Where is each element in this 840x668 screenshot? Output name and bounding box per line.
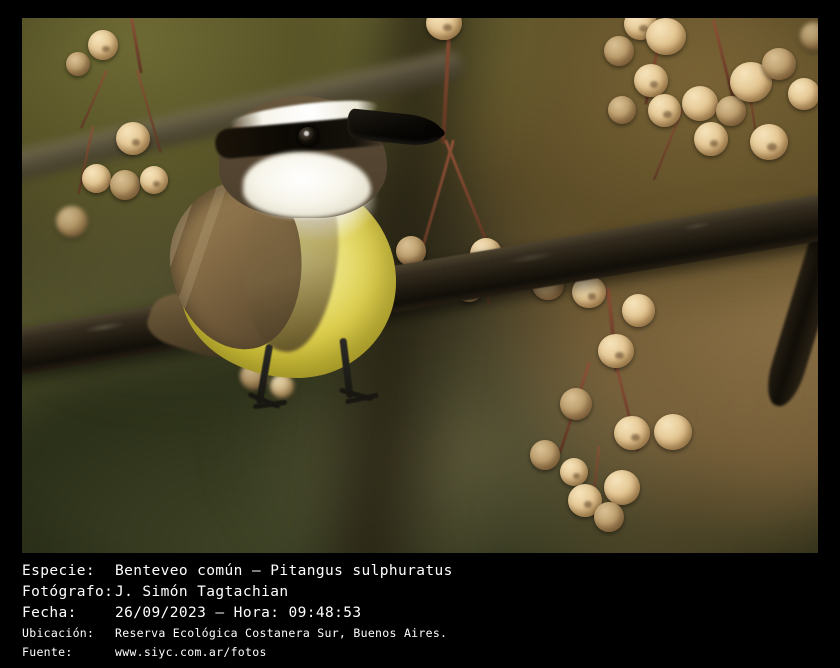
especie-value: Benteveo común – Pitangus sulphuratus [115,561,453,582]
fecha-label: Fecha: [22,603,115,624]
especie-label: Especie: [22,561,115,582]
metadata-row-ubicacion: Ubicación: Reserva Ecológica Costanera S… [22,624,662,643]
fuente-value: www.siyc.com.ar/fotos [115,643,267,662]
metadata-row-especie: Especie: Benteveo común – Pitangus sulph… [22,561,662,582]
metadata-row-fotografo: Fotógrafo: J. Simón Tagtachian [22,582,662,603]
caption-bar: Especie: Benteveo común – Pitangus sulph… [0,555,840,668]
metadata-row-fecha: Fecha: 26/09/2023 – Hora: 09:48:53 [22,603,662,624]
fotografo-value: J. Simón Tagtachian [115,582,288,603]
fotografo-label: Fotógrafo: [22,582,115,603]
ubicacion-label: Ubicación: [22,624,115,643]
photo-card: Especie: Benteveo común – Pitangus sulph… [0,0,840,668]
metadata-row-fuente: Fuente: www.siyc.com.ar/fotos [22,643,662,662]
great-kiskadee-bird [157,86,447,386]
berry-cluster-center-right [502,288,732,548]
bird-eye [298,127,319,146]
ubicacion-value: Reserva Ecológica Costanera Sur, Buenos … [115,624,447,643]
metadata-list: Especie: Benteveo común – Pitangus sulph… [22,561,662,662]
fuente-label: Fuente: [22,643,115,662]
fecha-value: 26/09/2023 – Hora: 09:48:53 [115,603,362,624]
bird-photograph [22,18,818,553]
